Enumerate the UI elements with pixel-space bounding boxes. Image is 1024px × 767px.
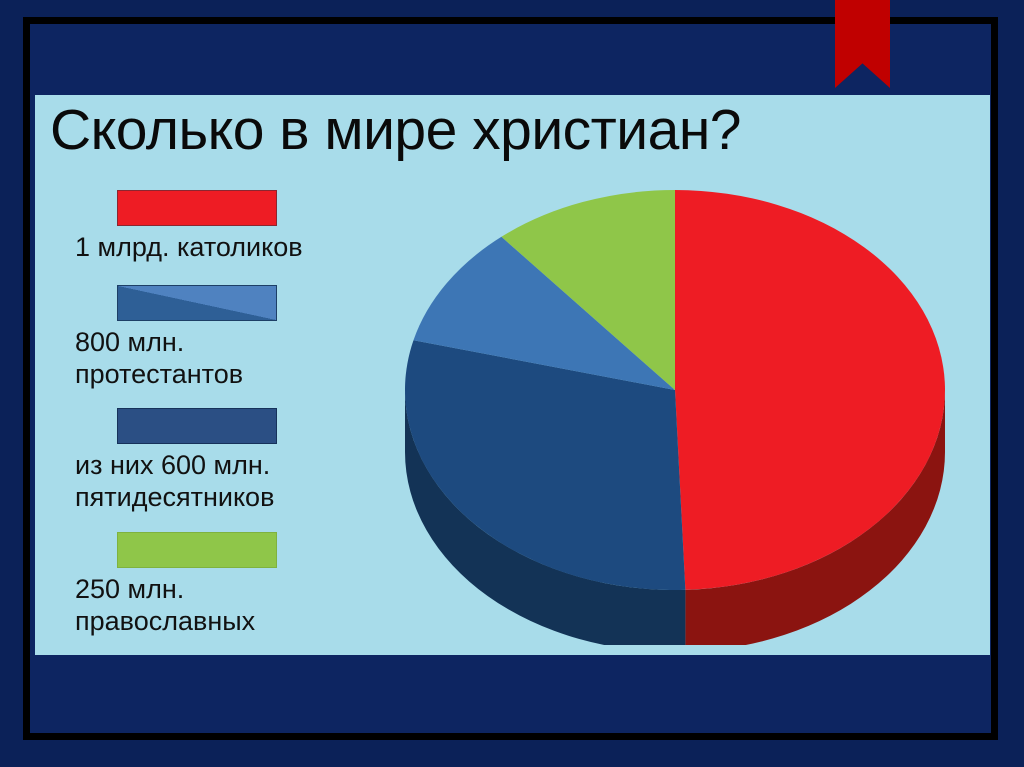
pie-top-faces [405, 190, 945, 590]
slide-canvas: Сколько в мире христиан? 1 млрд. католик… [0, 0, 1024, 767]
legend-item-pentecostals[interactable]: из них 600 млн. пятидесятников [57, 408, 357, 514]
legend-item-catholics[interactable]: 1 млрд. католиков [57, 190, 357, 264]
legend-swatch-protestants-icon [117, 285, 277, 321]
pie-chart-svg [365, 185, 985, 645]
legend-label-catholics: 1 млрд. католиков [75, 232, 357, 264]
legend-item-protestants[interactable]: 800 млн. протестантов [57, 285, 357, 391]
legend-label-protestants: 800 млн. протестантов [75, 327, 357, 391]
legend-label-pentecostals: из них 600 млн. пятидесятников [75, 450, 357, 514]
legend-swatch-catholics-icon [117, 190, 277, 226]
content-panel: Сколько в мире христиан? 1 млрд. католик… [35, 95, 990, 655]
pie-chart-3d [365, 185, 985, 645]
legend-item-orthodox[interactable]: 250 млн. православных [57, 532, 357, 638]
page-title: Сколько в мире христиан? [50, 101, 741, 159]
legend-label-orthodox: 250 млн. православных [75, 574, 357, 638]
legend-swatch-orthodox-icon [117, 532, 277, 568]
legend-swatch-pentecostals-icon [117, 408, 277, 444]
